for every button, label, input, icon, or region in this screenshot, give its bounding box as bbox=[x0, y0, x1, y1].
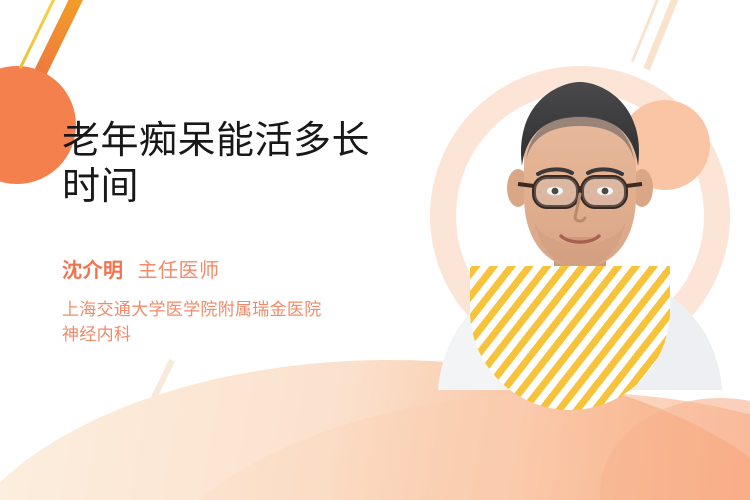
bottom-left-stripe-decoration bbox=[151, 359, 175, 399]
cover-text-block: 老年痴呆能活多长 时间 沈介明 主任医师 上海交通大学医学院附属瑞金医院 神经内… bbox=[62, 118, 442, 347]
doctor-name: 沈介明 bbox=[62, 254, 124, 283]
doctor-portrait bbox=[430, 60, 730, 390]
doctor-identity-row: 沈介明 主任医师 bbox=[62, 254, 442, 283]
video-cover-card: 老年痴呆能活多长 时间 沈介明 主任医师 上海交通大学医学院附属瑞金医院 神经内… bbox=[0, 0, 750, 500]
page-title: 老年痴呆能活多长 时间 bbox=[62, 118, 442, 210]
top-left-stripes-decoration bbox=[3, 0, 126, 102]
doctor-affiliation: 上海交通大学医学院附属瑞金医院 神经内科 bbox=[62, 297, 442, 347]
bottom-wave-blob bbox=[600, 398, 750, 500]
yellow-striped-disc-decoration bbox=[470, 266, 670, 410]
stripe-orange bbox=[35, 0, 92, 75]
doctor-rank: 主任医师 bbox=[138, 254, 220, 283]
stripe-yellow bbox=[19, 0, 69, 69]
stripe-cream-thin bbox=[631, 0, 667, 62]
